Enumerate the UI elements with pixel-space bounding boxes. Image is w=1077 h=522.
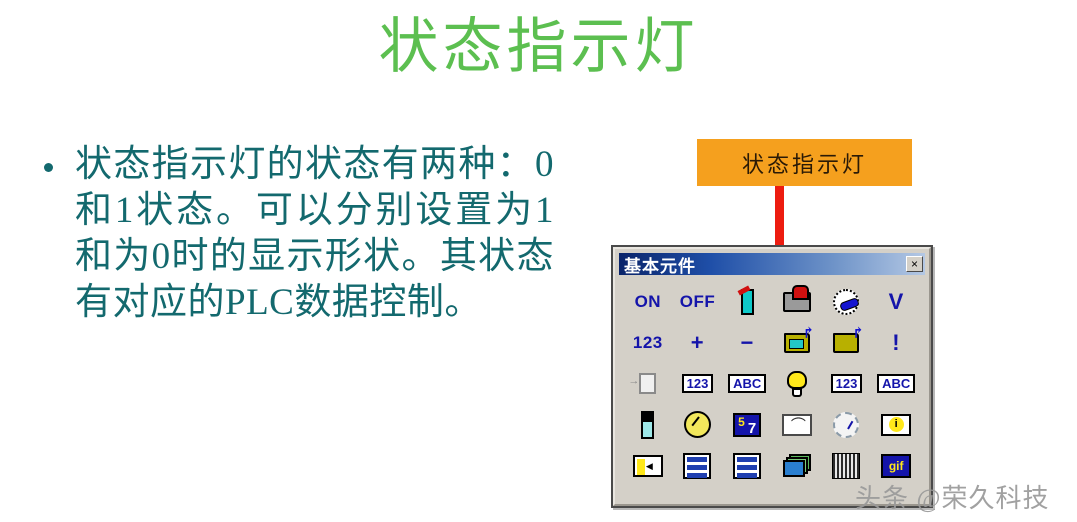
minus-icon[interactable]: −: [727, 325, 767, 361]
plus-icon[interactable]: +: [677, 325, 717, 361]
off-text-icon[interactable]: OFF: [677, 284, 717, 320]
dialog-inner-frame: 基本元件 × ONOFFV123+−!123ABC123ABCigif: [613, 247, 931, 506]
alpha-display-icon[interactable]: ABC: [876, 366, 916, 402]
callout-label: 状态指示灯: [697, 139, 912, 186]
bullet-marker-icon: [44, 163, 53, 172]
watermark-text: 头条 @荣久科技: [855, 478, 1049, 515]
close-icon[interactable]: ×: [906, 256, 923, 272]
exclamation-icon[interactable]: !: [876, 325, 916, 361]
numeric-display-icon[interactable]: 123: [826, 366, 866, 402]
table-icon[interactable]: [727, 448, 767, 484]
page-title: 状态指示灯: [0, 8, 1077, 86]
numeric-input-icon[interactable]: 123: [677, 366, 717, 402]
push-button-icon[interactable]: [777, 284, 817, 320]
page-goto-icon[interactable]: [628, 366, 668, 402]
picture-stack-icon[interactable]: [777, 448, 817, 484]
panel-meter-icon[interactable]: [777, 407, 817, 443]
v-text-icon[interactable]: V: [876, 284, 916, 320]
bullet-list-item: 状态指示灯的状态有两种：0和1状态。可以分别设置为1和为0时的显示形状。其状态有…: [44, 142, 554, 326]
pie-meter-icon[interactable]: [677, 407, 717, 443]
folder-open-screen-icon[interactable]: [777, 325, 817, 361]
bullet-item-text: 状态指示灯的状态有两种：0和1状态。可以分别设置为1和为0时的显示形状。其状态有…: [75, 142, 554, 326]
callout-label-text: 状态指示灯: [742, 147, 867, 179]
status-lamp-icon[interactable]: [777, 366, 817, 402]
slide-canvas: 状态指示灯 状态指示灯的状态有两种：0和1状态。可以分别设置为1和为0时的显示形…: [0, 0, 1077, 522]
numeric-123-icon[interactable]: 123: [628, 325, 668, 361]
list-box-icon[interactable]: [677, 448, 717, 484]
input-field-icon[interactable]: [628, 448, 668, 484]
rotary-knob-icon[interactable]: [826, 284, 866, 320]
folder-icon[interactable]: [826, 325, 866, 361]
basic-elements-dialog: 基本元件 × ONOFFV123+−!123ABC123ABCigif: [611, 245, 933, 508]
toggle-switch-icon[interactable]: [727, 284, 767, 320]
element-icon-grid: ONOFFV123+−!123ABC123ABCigif: [619, 281, 925, 486]
dialog-title-text: 基本元件: [624, 252, 906, 277]
info-icon[interactable]: i: [876, 407, 916, 443]
on-text-icon[interactable]: ON: [628, 284, 668, 320]
bar-graph-icon[interactable]: [628, 407, 668, 443]
dialog-titlebar[interactable]: 基本元件 ×: [619, 253, 925, 275]
round-gauge-icon[interactable]: [826, 407, 866, 443]
body-content: 状态指示灯的状态有两种：0和1状态。可以分别设置为1和为0时的显示形状。其状态有…: [44, 142, 554, 326]
alpha-input-icon[interactable]: ABC: [727, 366, 767, 402]
chart-icon[interactable]: [727, 407, 767, 443]
